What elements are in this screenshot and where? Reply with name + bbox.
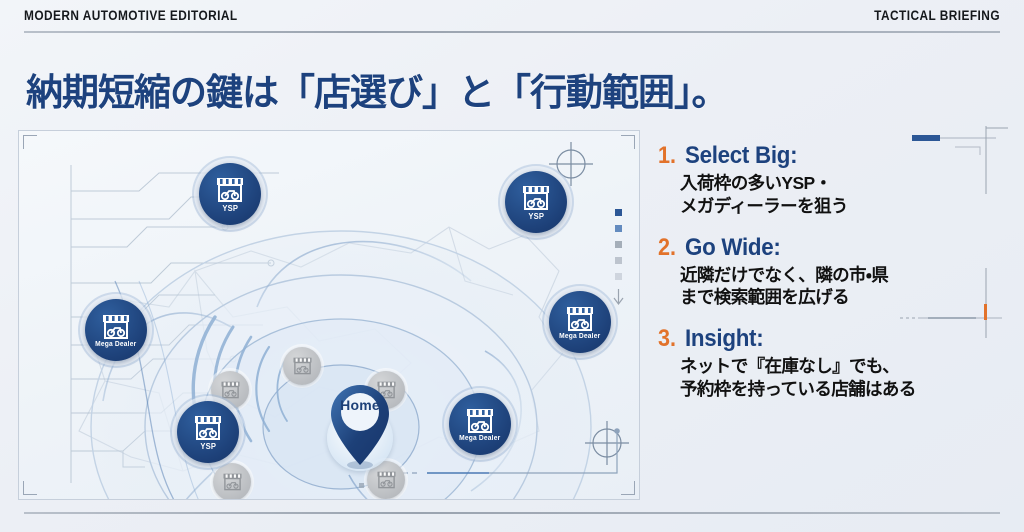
dealer-badge-label: YSP	[200, 442, 216, 451]
key-points-list: 1. Select Big: 入荷枠の多いYSP・ メガディーラーを狙う 2. …	[658, 142, 1008, 417]
list-item-body-line: メガディーラーを狙う	[680, 195, 1008, 218]
home-label: Home	[317, 397, 403, 413]
list-item-body: 近隣だけでなく、隣の市・県 まで検索範囲を広げる	[680, 264, 1008, 310]
list-item-heading: 2. Go Wide:	[658, 234, 1008, 262]
list-item-title: Insight:	[685, 325, 763, 353]
list-item: 2. Go Wide: 近隣だけでなく、隣の市・県 まで検索範囲を広げる	[658, 234, 1008, 310]
dealer-shop-icon	[291, 357, 314, 375]
list-item-body-line: まで検索範囲を広げる	[680, 286, 1008, 309]
dealer-badge-bottom-left[interactable]: YSP	[177, 401, 239, 463]
list-item-body-line: 予約枠を持っている店舗はある	[680, 378, 1008, 401]
list-item-body: ネットで『在庫なし』でも、 予約枠を持っている店舗はある	[680, 355, 1008, 401]
header-divider	[24, 31, 1000, 33]
dealer-badge-label: YSP	[528, 212, 544, 221]
dealer-shop-icon	[99, 314, 133, 340]
list-item: 1. Select Big: 入荷枠の多いYSP・ メガディーラーを狙う	[658, 142, 1008, 218]
dealer-badge-top-left[interactable]: YSP	[199, 163, 261, 225]
dealer-shop-icon	[519, 185, 553, 211]
list-item-body-line: ネットで『在庫なし』でも、	[680, 355, 1008, 378]
list-item-number: 2.	[658, 234, 676, 262]
dealer-badge-label: Mega Dealer	[559, 333, 600, 340]
dot-column-icon	[614, 209, 623, 304]
map-pin-icon	[317, 379, 403, 475]
list-item-title: Go Wide:	[685, 234, 781, 262]
page-title: 納期短縮の鍵は「店選び」と「行動範囲」。	[26, 62, 926, 116]
dealer-shop-icon	[219, 381, 242, 399]
list-item-heading: 3. Insight:	[658, 325, 1008, 353]
dealer-badge-label: Mega Dealer	[459, 435, 500, 442]
list-item-heading: 1. Select Big:	[658, 142, 1008, 170]
list-item-body-line: 近隣だけでなく、隣の市・県	[680, 264, 1008, 287]
dealer-badge-right[interactable]: Mega Dealer	[549, 291, 611, 353]
list-item-body-line: 入荷枠の多いYSP・	[680, 172, 1008, 195]
dealer-shop-icon	[213, 177, 247, 203]
dealer-shop-icon	[191, 415, 225, 441]
dealer-badge-bottom-right[interactable]: Mega Dealer	[449, 393, 511, 455]
dealer-shop-icon	[563, 306, 597, 332]
dealer-badge-left[interactable]: Mega Dealer	[85, 299, 147, 361]
dealer-badge-top-right[interactable]: YSP	[505, 171, 567, 233]
dealer-shop-icon	[463, 408, 497, 434]
inner-node-inner-top	[283, 347, 321, 385]
radius-diagram-panel: YSP YSP	[18, 130, 640, 500]
list-item-number: 3.	[658, 325, 676, 353]
dealer-shop-icon	[221, 473, 244, 491]
list-item: 3. Insight: ネットで『在庫なし』でも、 予約枠を持っている店舗はある	[658, 325, 1008, 401]
footer-divider	[24, 512, 1000, 514]
list-item-body: 入荷枠の多いYSP・ メガディーラーを狙う	[680, 172, 1008, 218]
list-item-title: Select Big:	[685, 142, 797, 170]
dealer-badge-label: YSP	[222, 204, 238, 213]
header-left-label: MODERN AUTOMOTIVE EDITORIAL	[24, 8, 238, 23]
home-marker[interactable]: Home	[317, 379, 403, 475]
header-right-label: TACTICAL BRIEFING	[874, 8, 1000, 23]
inner-node-inner-lower-left	[213, 463, 251, 500]
slide-root: MODERN AUTOMOTIVE EDITORIAL TACTICAL BRI…	[0, 0, 1024, 532]
dealer-badge-label: Mega Dealer	[95, 341, 136, 348]
list-item-number: 1.	[658, 142, 676, 170]
